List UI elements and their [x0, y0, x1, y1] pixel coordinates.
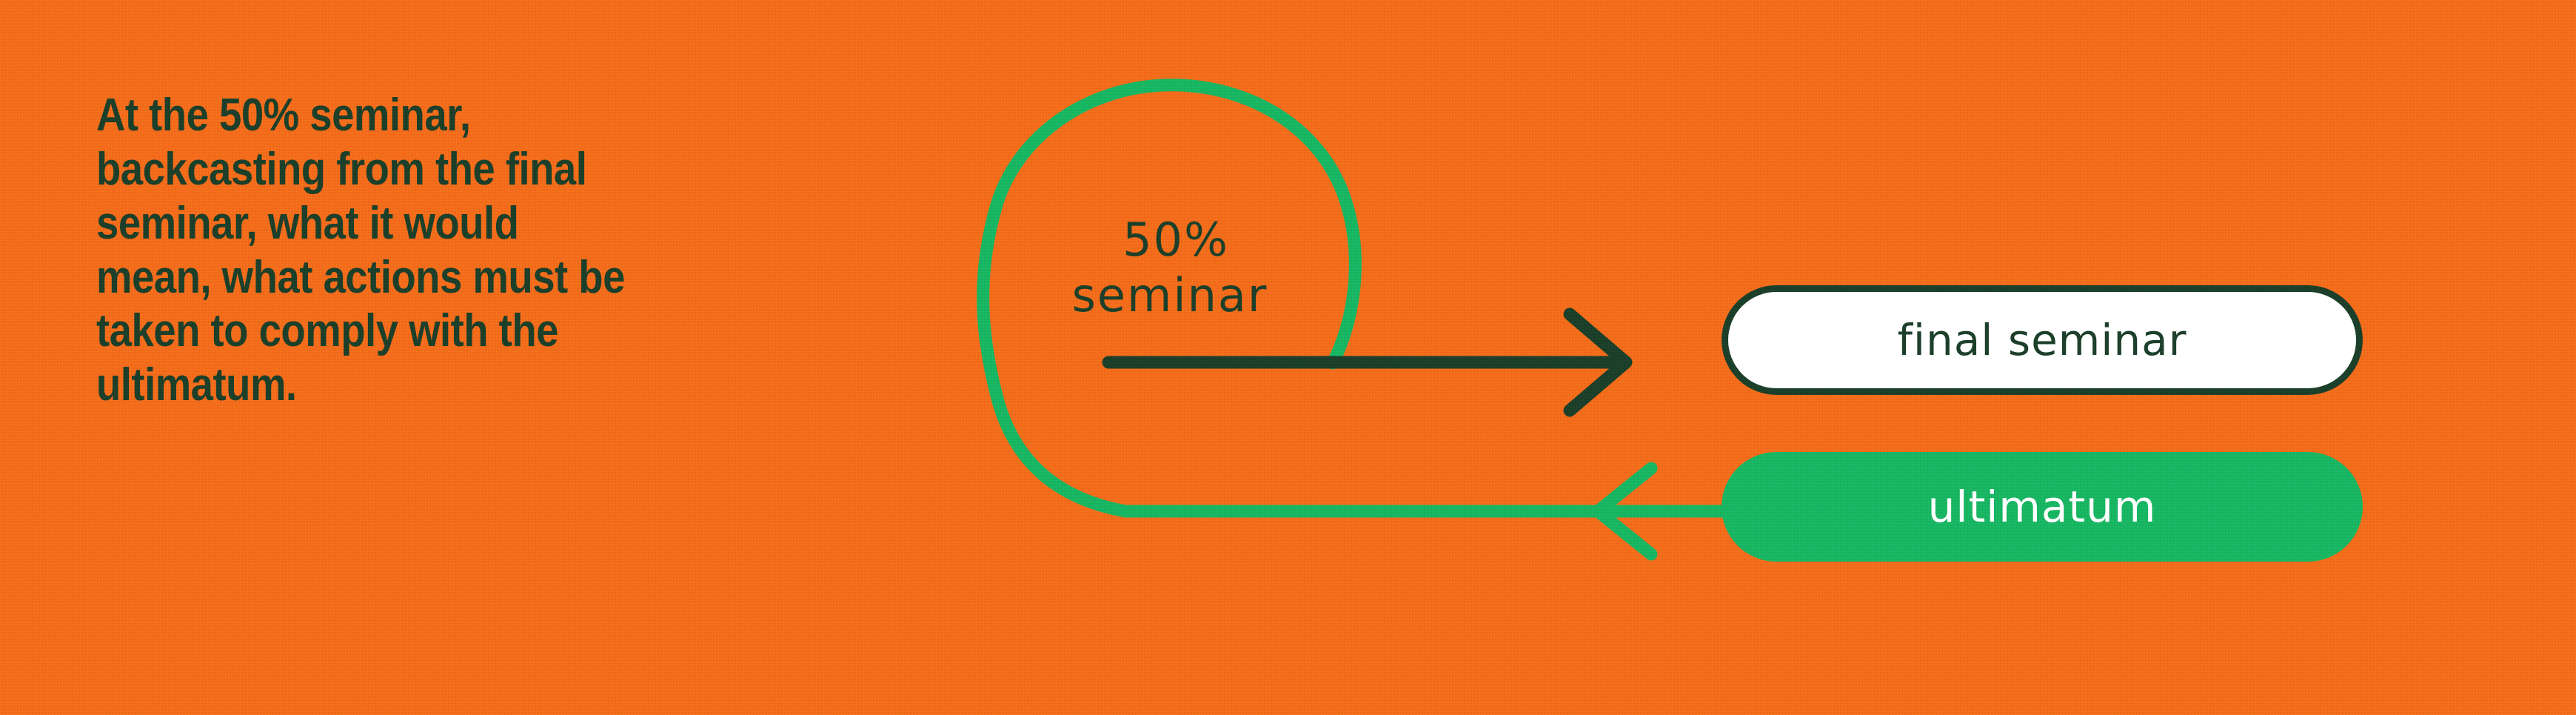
loop-label-line-1: 50% — [1123, 213, 1229, 267]
node-final-seminar[interactable]: final seminar — [1722, 285, 2363, 395]
loop-label-line-2: seminar — [1072, 268, 1268, 322]
node-ultimatum[interactable]: ultimatum — [1722, 452, 2363, 562]
node-final-seminar-label: final seminar — [1897, 315, 2187, 365]
node-ultimatum-label: ultimatum — [1928, 482, 2157, 532]
diagram-canvas: At the 50% seminar, backcasting from the… — [0, 0, 2576, 715]
